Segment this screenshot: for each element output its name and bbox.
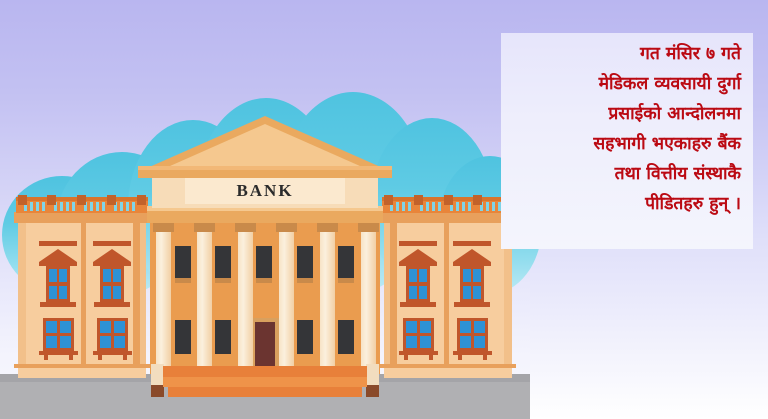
- column-capital: [235, 222, 256, 232]
- left-wing-edge-pilaster: [133, 222, 140, 374]
- portico-bay-window: [256, 246, 272, 278]
- baluster: [36, 202, 39, 211]
- baluster: [462, 202, 465, 211]
- portico-column: [320, 228, 335, 374]
- balustrade-post: [444, 195, 453, 205]
- caption-line: प्रसाईको आन्दोलनमा: [513, 99, 741, 129]
- step-pilaster-right-base: [366, 385, 379, 397]
- baluster: [126, 202, 129, 211]
- baluster: [90, 202, 93, 211]
- column-capital: [358, 222, 379, 232]
- column-capital: [153, 222, 174, 232]
- caption-line: तथा वित्तीय संस्थाकै: [513, 159, 741, 189]
- portico-entablature: [147, 210, 383, 223]
- baluster: [492, 202, 495, 211]
- step-tread: [163, 366, 367, 377]
- baluster: [408, 202, 411, 211]
- baluster: [132, 202, 135, 211]
- balustrade-post: [414, 195, 423, 205]
- balustrade-post: [47, 195, 56, 205]
- step-tread: [163, 377, 367, 387]
- baluster: [60, 202, 63, 211]
- column-capital: [317, 222, 338, 232]
- baluster: [402, 202, 405, 211]
- balustrade-post: [384, 195, 393, 205]
- right-wing-edge-pilaster: [390, 222, 397, 374]
- illustration-canvas: BANK गत मंसिर ७ गते मेडिकल व्यवसायी दुर्: [0, 0, 768, 419]
- step-tread: [168, 387, 362, 397]
- portico-column: [197, 228, 212, 374]
- portico-column: [156, 228, 171, 374]
- left-wing-pilaster: [81, 222, 86, 366]
- portico-bay-sill: [297, 278, 313, 283]
- portico-bay-window: [297, 246, 313, 278]
- portico-bay-window: [338, 246, 354, 278]
- baluster: [396, 202, 399, 211]
- portico-bay-sill: [175, 278, 191, 283]
- bank-sign-text: BANK: [185, 181, 345, 201]
- caption-line: गत मंसिर ७ गते: [513, 39, 741, 69]
- right-wing-pilaster: [444, 222, 449, 366]
- baluster: [432, 202, 435, 211]
- balustrade-post: [473, 195, 482, 205]
- baluster: [30, 202, 33, 211]
- left-wing-plinth-edge: [14, 364, 150, 368]
- column-capital: [276, 222, 297, 232]
- caption-line: पीडितहरु हुन् ।: [513, 189, 741, 219]
- portico-column: [361, 228, 376, 374]
- column-capital: [194, 222, 215, 232]
- bank-sign-plaque: BANK: [185, 176, 345, 204]
- portico-bay-sill: [256, 278, 272, 283]
- caption-panel: गत मंसिर ७ गते मेडिकल व्यवसायी दुर्गा प्…: [501, 33, 753, 249]
- portico-bay-window: [338, 320, 354, 354]
- portico-column: [279, 228, 294, 374]
- baluster: [468, 202, 471, 211]
- portico-bay-window: [215, 320, 231, 354]
- portico-bay-sill: [215, 278, 231, 283]
- step-pilaster-right: [366, 364, 379, 385]
- right-wing-plinth-edge: [380, 364, 516, 368]
- baluster: [42, 202, 45, 211]
- baluster: [426, 202, 429, 211]
- balustrade-post: [137, 195, 146, 205]
- baluster: [486, 202, 489, 211]
- left-wing-cornice: [14, 212, 150, 223]
- right-wing-cornice: [380, 212, 516, 223]
- bank-building: BANK: [0, 0, 530, 419]
- portico-bay-sill: [338, 278, 354, 283]
- portico-bay-window: [297, 320, 313, 354]
- baluster: [72, 202, 75, 211]
- balustrade-post: [18, 195, 27, 205]
- balustrade-post: [77, 195, 86, 205]
- baluster: [66, 202, 69, 211]
- portico-bay-window: [175, 320, 191, 354]
- caption-line: सहभागी भएकाहरु बैंक: [513, 129, 741, 159]
- caption-text: गत मंसिर ७ गते मेडिकल व्यवसायी दुर्गा प्…: [501, 39, 753, 219]
- balustrade-post: [107, 195, 116, 205]
- portico-column: [238, 228, 253, 374]
- portico-bay-window: [215, 246, 231, 278]
- portico-bay-window: [175, 246, 191, 278]
- baluster: [456, 202, 459, 211]
- baluster: [438, 202, 441, 211]
- baluster: [120, 202, 123, 211]
- pediment-roof: [138, 116, 392, 178]
- baluster: [96, 202, 99, 211]
- baluster: [102, 202, 105, 211]
- caption-line: मेडिकल व्यवसायी दुर्गा: [513, 69, 741, 99]
